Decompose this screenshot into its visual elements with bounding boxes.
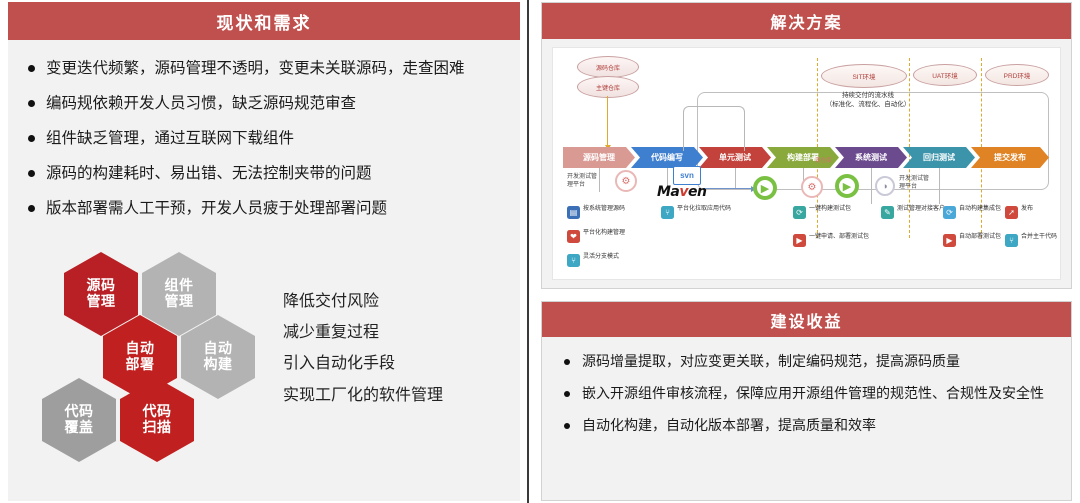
rocket-icon: ➚ [1005, 206, 1018, 219]
play-icon: ▶ [753, 176, 777, 200]
label-line-2: 理平台 [567, 182, 597, 190]
maven-arrow [705, 188, 755, 189]
legend-item-branch-mode: ⑂ 灵活分支模式 [567, 254, 645, 267]
current-state-body: 变更迭代频繁，源码管理不透明，变更未关联源码，走查困难 编码规依赖开发人员习惯，… [8, 40, 520, 219]
stage-tick [735, 168, 736, 188]
edit-icon: ✎ [881, 206, 894, 219]
legend-label: 一键申请、部署测试包 [809, 234, 869, 242]
stage-tick [599, 168, 600, 192]
branch-icon: ⑂ [1005, 234, 1018, 247]
list-item: 源码增量提取，对应变更关联，制定编码规范，提高源码质量 [560, 353, 1053, 372]
heart-icon: ❤ [567, 230, 580, 243]
benefits-bullet-list: 源码增量提取，对应变更关联，制定编码规范，提高源码质量 嵌入开源组件审核流程，保… [560, 353, 1053, 436]
legend-item-manage-source: ▤ 按系统管理源码 [567, 206, 645, 219]
hex-line-1: 组件 [165, 278, 194, 294]
pipeline-note-line-2: （标准化、流程化、自动化） [793, 101, 943, 110]
play-circle-icon: ▶ [943, 234, 956, 247]
pipeline-note-line-1: 持续交付的流水线 [793, 92, 943, 101]
list-item: 组件缺乏管理，通过互联网下载组件 [24, 128, 506, 149]
stage-system-test: 系统测试 [835, 147, 907, 168]
legend-item-build-management: ❤ 平台化构建管理 [567, 230, 645, 243]
branch-icon: ⑂ [661, 206, 674, 219]
hex-line-2: 扫描 [143, 420, 172, 436]
svn-logo: svn [673, 166, 701, 185]
stage-tick [939, 168, 940, 204]
benefits-panel: 建设收益 源码增量提取，对应变更关联，制定编码规范，提高源码质量 嵌入开源组件审… [541, 301, 1072, 501]
legend-item-release: ➚ 发布 [1005, 206, 1055, 219]
pipeline-connector [683, 106, 745, 151]
gear-icon: ⚙ [801, 176, 823, 198]
repo-artifact: 主键仓库 [577, 76, 639, 98]
hex-line-1: 源码 [87, 278, 116, 294]
env-sit: SIT环境 [821, 64, 907, 88]
play-icon: ▶ [835, 174, 859, 198]
refresh-icon: ⟳ [793, 206, 806, 219]
legend-item-merge-trunk: ⑂ 合并主干代码 [1005, 234, 1061, 247]
dev-test-platform-label: 开发测试管 理平台 [567, 174, 597, 190]
play-circle-icon: ▶ [793, 234, 806, 247]
legend-label: 平台化构建管理 [583, 230, 625, 238]
hex-line-1: 代码 [65, 404, 94, 420]
grid-icon: ▤ [567, 206, 580, 219]
current-state-bullet-list: 变更迭代频繁，源码管理不透明，变更未关联源码，走查困难 编码规依赖开发人员习惯，… [24, 58, 506, 219]
legend-label: 按系统管理源码 [583, 206, 625, 214]
hex-line-2: 管理 [87, 294, 116, 310]
stage-source-management: 源码管理 [563, 147, 635, 168]
current-state-title: 现状和需求 [8, 2, 520, 40]
legend-item-pull-code: ⑂ 平台化拉取应用代码 [661, 206, 739, 219]
current-state-panel: 现状和需求 变更迭代频繁，源码管理不透明，变更未关联源码，走查困难 编码规依赖开… [8, 2, 520, 501]
legend-label: 一键构建测试包 [809, 206, 851, 214]
solution-panel: 解决方案 源码仓库 主键仓库 SIT环境 UAT环境 PRD环境 持续交付的流水… [541, 2, 1072, 289]
list-item: 变更迭代频繁，源码管理不透明，变更未关联源码，走查困难 [24, 58, 506, 79]
hex-line-2: 管理 [165, 294, 194, 310]
hex-line-1: 代码 [143, 404, 172, 420]
hex-line-2: 覆盖 [65, 420, 94, 436]
capability-hex-cluster: 源码 管理 组件 管理 自动 部署 自动 构建 代码 覆盖 代码 扫描 [30, 242, 270, 492]
goal-item: 引入自动化手段 [283, 347, 513, 378]
legend-label: 测试管理对接客户 [897, 206, 945, 214]
solution-title: 解决方案 [542, 3, 1071, 39]
list-item: 自动化构建，自动化版本部署，提高质量和效率 [560, 417, 1053, 436]
gear-icon: ⚙ [615, 170, 637, 192]
label-line-2: 理平台 [899, 184, 929, 192]
list-item: 编码规依赖开发人员习惯，缺乏源码规范审查 [24, 93, 506, 114]
stage-regression-test: 回归测试 [903, 147, 975, 168]
artifact-repo-label: 源仓库 [815, 156, 832, 164]
solution-body: 源码仓库 主键仓库 SIT环境 UAT环境 PRD环境 持续交付的流水线 （标准… [542, 39, 1071, 288]
goal-item: 降低交付风险 [283, 285, 513, 316]
maven-logo: Maven [657, 184, 707, 200]
hex-line-2: 部署 [126, 357, 155, 373]
list-item: 嵌入开源组件审核流程，保障应用开源组件管理的规范性、合规性及安全性 [560, 385, 1053, 404]
legend-label: 合并主干代码 [1021, 234, 1057, 242]
legend-item-one-click-build: ⟳ 一键构建测试包 [793, 206, 871, 219]
hex-code-coverage: 代码 覆盖 [42, 378, 116, 462]
stage-release: 提交发布 [971, 147, 1049, 168]
hex-line-1: 自动 [126, 341, 155, 357]
pipeline-diagram: 源码仓库 主键仓库 SIT环境 UAT环境 PRD环境 持续交付的流水线 （标准… [552, 47, 1061, 280]
stage-tick [871, 168, 872, 204]
list-item: 版本部署需人工干预，开发人员疲于处理部署问题 [24, 198, 506, 219]
gauge-icon: ◑ [875, 176, 895, 196]
list-item: 源码的构建耗时、易出错、无法控制夹带的问题 [24, 163, 506, 184]
refresh-icon: ⟳ [943, 206, 956, 219]
label-line-1: 开发测试管 [899, 176, 929, 184]
goal-item: 减少重复过程 [283, 316, 513, 347]
label-line-1: 开发测试管 [567, 174, 597, 182]
repo-down-arrow [607, 96, 608, 146]
pipeline-note: 持续交付的流水线 （标准化、流程化、自动化） [793, 92, 943, 110]
legend-label: 自动部署测试包 [959, 234, 1001, 242]
legend-item-one-click-deploy: ▶ 一键申请、部署测试包 [793, 234, 871, 247]
legend-label: 发布 [1021, 206, 1033, 214]
hex-line-1: 自动 [204, 341, 233, 357]
benefits-title: 建设收益 [542, 302, 1071, 337]
slide-canvas: 现状和需求 变更迭代频繁，源码管理不透明，变更未关联源码，走查困难 编码规依赖开… [0, 0, 1080, 503]
goal-item: 实现工厂化的软件管理 [283, 379, 513, 410]
legend-label: 自动构建集成包 [959, 206, 1001, 214]
legend-label: 灵活分支模式 [583, 254, 619, 262]
goal-list: 降低交付风险 减少重复过程 引入自动化手段 实现工厂化的软件管理 [283, 285, 513, 410]
benefits-body: 源码增量提取，对应变更关联，制定编码规范，提高源码质量 嵌入开源组件审核流程，保… [542, 337, 1071, 436]
vertical-divider [527, 0, 529, 503]
repo-source: 源码仓库 [577, 56, 639, 78]
dev-test-platform-label-2: 开发测试管 理平台 [899, 176, 929, 192]
hex-line-2: 构建 [204, 357, 233, 373]
branch-icon: ⑂ [567, 254, 580, 267]
env-prd: PRD环境 [985, 64, 1049, 86]
env-uat: UAT环境 [913, 64, 977, 86]
legend-label: 平台化拉取应用代码 [677, 206, 731, 214]
